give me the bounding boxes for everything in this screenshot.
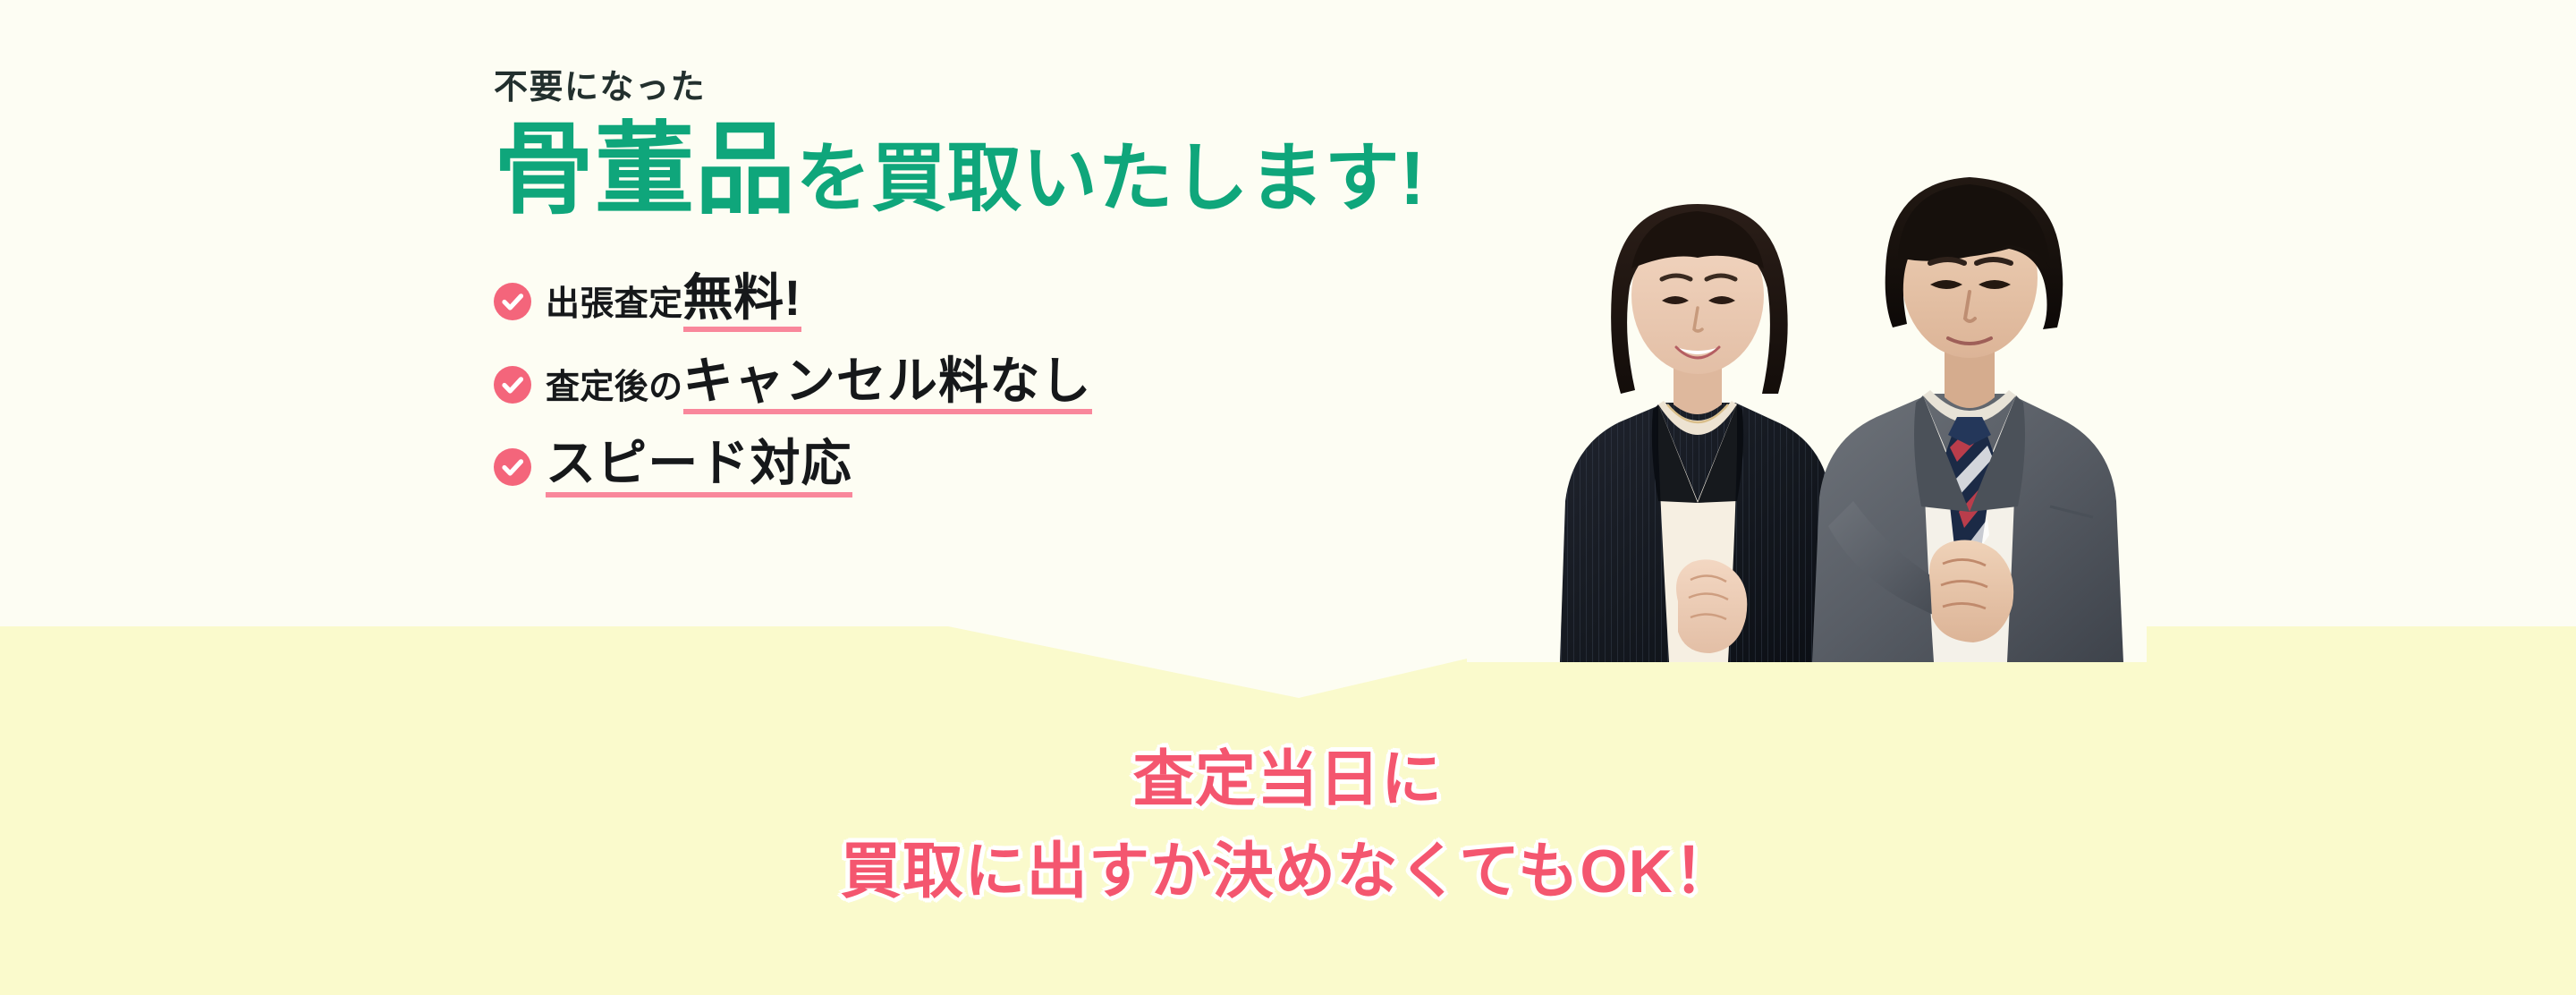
headline-rest: を買取いたします!: [796, 136, 1426, 220]
benefit-strong-2: キャンセル料なし: [683, 355, 1092, 415]
hero-banner: 不要になった 骨董品を買取いたします! 出張査定 無料!: [0, 0, 2576, 995]
headline-highlight: 骨董品: [494, 114, 796, 225]
list-item: 出張査定 無料!: [494, 272, 1567, 332]
bottom-message-line-1: 査定当日に: [0, 734, 2576, 826]
bottom-message: 査定当日に 買取に出すか決めなくてもOK！: [0, 734, 2576, 919]
benefit-lead-2: 査定後の: [546, 359, 683, 408]
benefit-list: 出張査定 無料! 査定後の キャンセル料なし: [494, 272, 1567, 497]
hero-copy: 不要になった 骨董品を買取いたします! 出張査定 無料!: [494, 70, 1567, 521]
benefit-lead-1: 出張査定: [546, 276, 683, 325]
appraiser-photo: [1467, 0, 2147, 662]
benefit-strong-3: スピード対応: [546, 438, 852, 497]
check-circle-icon: [494, 283, 531, 320]
appraiser-photo-illustration: [1467, 0, 2147, 662]
list-item: 査定後の キャンセル料なし: [494, 355, 1567, 415]
list-item: スピード対応: [494, 438, 1567, 497]
bottom-message-line-2: 買取に出すか決めなくてもOK！: [0, 826, 2576, 918]
eyebrow-text: 不要になった: [494, 70, 1567, 107]
check-circle-icon: [494, 366, 531, 404]
page-title: 骨董品を買取いたします!: [494, 120, 1567, 220]
benefit-strong-1: 無料!: [683, 272, 801, 332]
check-circle-icon: [494, 448, 531, 486]
